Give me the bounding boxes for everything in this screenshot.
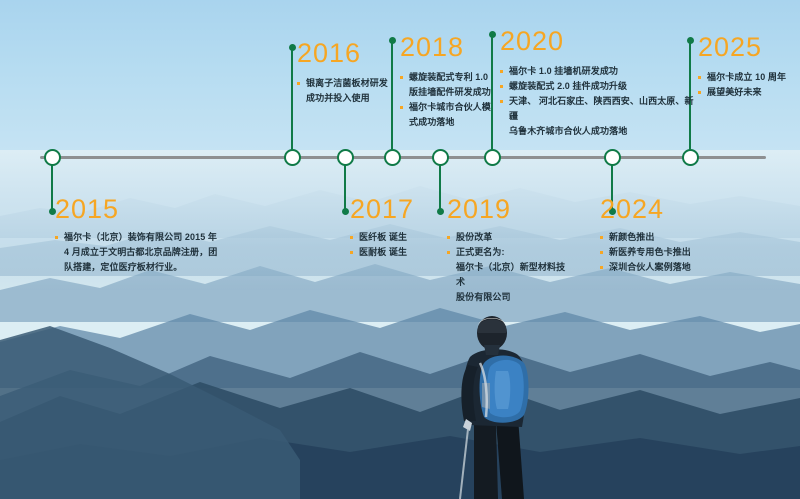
timeline-stem-2016	[291, 47, 294, 157]
timeline-node-2020[interactable]	[484, 149, 501, 166]
milestone-bullet-line: 福尔卡 1.0 挂墙机研发成功	[509, 64, 700, 79]
milestone-bullet-line: 股份改革	[456, 230, 567, 245]
milestone-2019[interactable]: 2019股份改革正式更名为:福尔卡（北京）新型材料技术股份有限公司	[447, 196, 567, 305]
milestone-bullet: 福尔卡成立 10 周年	[698, 70, 800, 85]
milestone-bullet: 银离子洁菌板材研发成功并投入使用	[297, 76, 397, 106]
milestone-bullet-list-2019: 股份改革正式更名为:福尔卡（北京）新型材料技术股份有限公司	[447, 230, 567, 305]
milestone-bullet-list-2025: 福尔卡成立 10 周年展望美好未来	[698, 70, 800, 100]
milestone-year-label-2020: 2020	[500, 28, 700, 55]
timeline-stem-cap-2017	[342, 208, 349, 215]
milestone-bullet-line: 福尔卡（北京）新型材料技术	[456, 260, 567, 290]
milestone-bullet: 福尔卡（北京）装饰有限公司 2015 年4 月成立于文明古都北京品牌注册，团队搭…	[55, 230, 265, 275]
milestone-bullet: 螺旋装配式 2.0 挂件成功升级	[500, 79, 700, 94]
milestone-bullet: 福尔卡城市合伙人模式成功落地	[400, 100, 505, 130]
milestone-2020[interactable]: 2020福尔卡 1.0 挂墙机研发成功螺旋装配式 2.0 挂件成功升级天津、 河…	[500, 28, 700, 139]
milestone-year-label-2016: 2016	[297, 40, 397, 67]
milestone-bullet-list-2020: 福尔卡 1.0 挂墙机研发成功螺旋装配式 2.0 挂件成功升级天津、 河北石家庄…	[500, 64, 700, 139]
milestone-bullet: 新医养专用色卡推出	[600, 245, 730, 260]
mountain-left-foreground	[0, 300, 800, 499]
milestone-bullet: 医纤板 诞生	[350, 230, 440, 245]
timeline-stem-cap-2016	[289, 44, 296, 51]
milestone-bullet-line: 4 月成立于文明古都北京品牌注册，团	[64, 245, 265, 260]
timeline-node-2019[interactable]	[432, 149, 449, 166]
milestone-bullet-line: 版挂墙配件研发成功	[409, 85, 505, 100]
milestone-bullet: 福尔卡 1.0 挂墙机研发成功	[500, 64, 700, 79]
milestone-bullet-line: 医纤板 诞生	[359, 230, 440, 245]
milestone-bullet: 螺旋装配式专利 1.0版挂墙配件研发成功	[400, 70, 505, 100]
milestone-bullet-line: 螺旋装配式 2.0 挂件成功升级	[509, 79, 700, 94]
milestone-bullet-line: 股份有限公司	[456, 290, 567, 305]
milestone-year-label-2017: 2017	[350, 196, 440, 223]
timeline-node-2017[interactable]	[337, 149, 354, 166]
milestone-2018[interactable]: 2018螺旋装配式专利 1.0版挂墙配件研发成功福尔卡城市合伙人模式成功落地	[400, 34, 505, 130]
milestone-bullet-line: 深圳合伙人案例落地	[609, 260, 730, 275]
milestone-year-label-2024: 2024	[600, 196, 730, 223]
timeline-node-2015[interactable]	[44, 149, 61, 166]
milestone-bullet-line: 银离子洁菌板材研发	[306, 76, 397, 91]
milestone-2024[interactable]: 2024新颜色推出新医养专用色卡推出深圳合伙人案例落地	[600, 196, 730, 275]
milestone-year-label-2015: 2015	[55, 196, 265, 223]
timeline-infographic: 2015福尔卡（北京）装饰有限公司 2015 年4 月成立于文明古都北京品牌注册…	[0, 0, 800, 499]
milestone-bullet-line: 展望美好未来	[707, 85, 800, 100]
milestone-bullet-line: 新医养专用色卡推出	[609, 245, 730, 260]
milestone-bullet-line: 队搭建，定位医疗板材行业。	[64, 260, 265, 275]
milestone-2015[interactable]: 2015福尔卡（北京）装饰有限公司 2015 年4 月成立于文明古都北京品牌注册…	[55, 196, 265, 275]
milestone-bullet: 展望美好未来	[698, 85, 800, 100]
milestone-year-label-2019: 2019	[447, 196, 567, 223]
milestone-bullet-line: 福尔卡城市合伙人模	[409, 100, 505, 115]
milestone-bullet: 正式更名为:福尔卡（北京）新型材料技术股份有限公司	[447, 245, 567, 305]
timeline-node-2025[interactable]	[682, 149, 699, 166]
timeline-node-2016[interactable]	[284, 149, 301, 166]
milestone-bullet-list-2017: 医纤板 诞生医耐板 诞生	[350, 230, 440, 260]
milestone-bullet-line: 福尔卡（北京）装饰有限公司 2015 年	[64, 230, 265, 245]
milestone-bullet: 深圳合伙人案例落地	[600, 260, 730, 275]
milestone-2016[interactable]: 2016银离子洁菌板材研发成功并投入使用	[297, 40, 397, 106]
milestone-bullet-line: 医耐板 诞生	[359, 245, 440, 260]
milestone-bullet-line: 成功并投入使用	[306, 91, 397, 106]
milestone-bullet-list-2024: 新颜色推出新医养专用色卡推出深圳合伙人案例落地	[600, 230, 730, 275]
milestone-bullet-line: 正式更名为:	[456, 245, 567, 260]
milestone-bullet: 新颜色推出	[600, 230, 730, 245]
milestone-bullet: 医耐板 诞生	[350, 245, 440, 260]
milestone-year-label-2018: 2018	[400, 34, 505, 61]
milestone-bullet-line: 螺旋装配式专利 1.0	[409, 70, 505, 85]
milestone-2017[interactable]: 2017医纤板 诞生医耐板 诞生	[350, 196, 440, 260]
milestone-bullet-line: 式成功落地	[409, 115, 505, 130]
timeline-node-2018[interactable]	[384, 149, 401, 166]
milestone-bullet: 天津、 河北石家庄、陕西西安、山西太原、新疆乌鲁木齐城市合伙人成功落地	[500, 94, 700, 139]
hiker-figure	[430, 305, 560, 499]
timeline-axis	[40, 156, 766, 159]
milestone-bullet: 股份改革	[447, 230, 567, 245]
timeline-node-2024[interactable]	[604, 149, 621, 166]
milestone-bullet-line: 福尔卡成立 10 周年	[707, 70, 800, 85]
milestone-year-label-2025: 2025	[698, 34, 800, 61]
milestone-bullet-list-2015: 福尔卡（北京）装饰有限公司 2015 年4 月成立于文明古都北京品牌注册，团队搭…	[55, 230, 265, 275]
milestone-2025[interactable]: 2025福尔卡成立 10 周年展望美好未来	[698, 34, 800, 100]
milestone-bullet-line: 乌鲁木齐城市合伙人成功落地	[509, 124, 700, 139]
milestone-bullet-line: 天津、 河北石家庄、陕西西安、山西太原、新疆	[509, 94, 700, 124]
milestone-bullet-list-2018: 螺旋装配式专利 1.0版挂墙配件研发成功福尔卡城市合伙人模式成功落地	[400, 70, 505, 130]
milestone-bullet-line: 新颜色推出	[609, 230, 730, 245]
milestone-bullet-list-2016: 银离子洁菌板材研发成功并投入使用	[297, 76, 397, 106]
